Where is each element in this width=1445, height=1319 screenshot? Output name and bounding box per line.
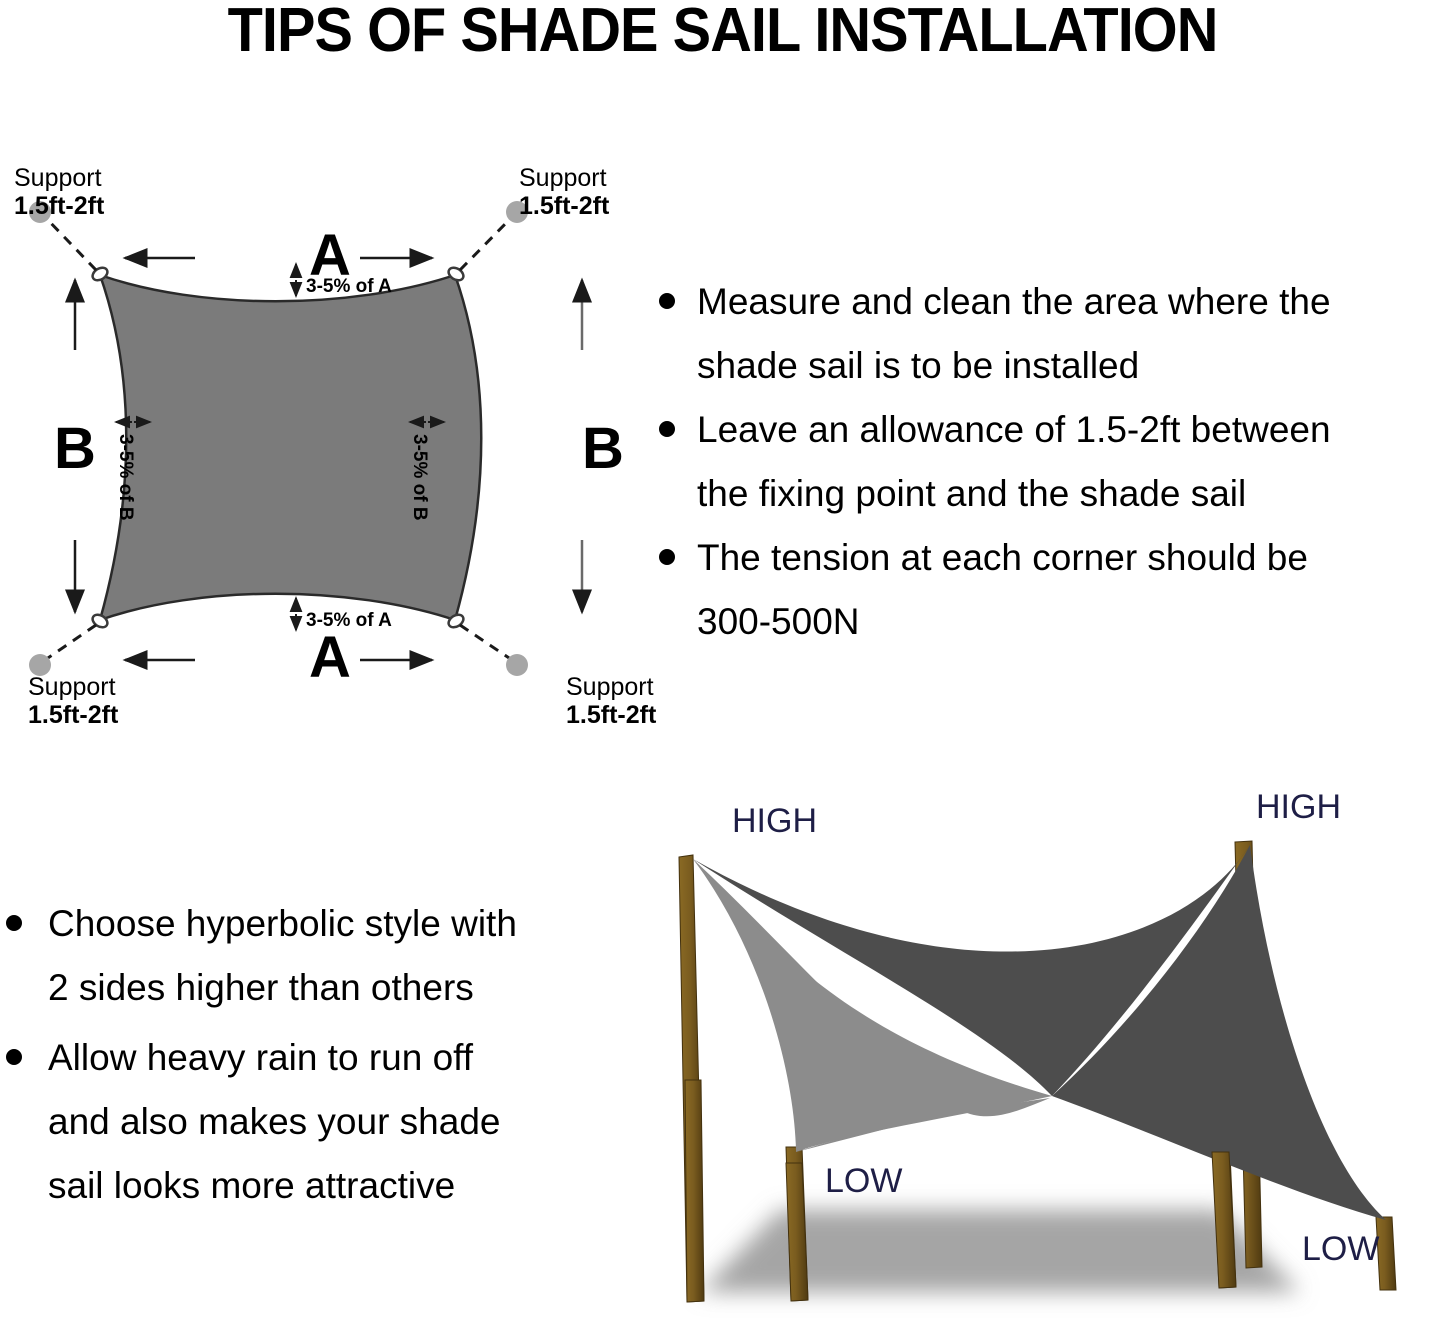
bullet-dot-icon [659, 293, 675, 309]
list-item-line: the fixing point and the shade sail [697, 462, 1445, 526]
label-low-left: LOW [825, 1162, 902, 1200]
curve-label-left: 3-5% of B [115, 434, 136, 521]
bullet-dot-icon [6, 915, 22, 931]
dimension-label-right-b: B [582, 416, 624, 481]
list-item-line: sail looks more attractive [48, 1154, 620, 1218]
support-anchor-bottom-right [460, 625, 528, 676]
curve-label-top: 3-5% of A [306, 276, 392, 297]
list-item-line: Leave an allowance of 1.5-2ft between [697, 398, 1445, 462]
curve-label-bottom: 3-5% of A [306, 610, 392, 631]
list-item-line: The tension at each corner should be [697, 526, 1445, 590]
support-label-bottom-right: Support 1.5ft-2ft [566, 673, 657, 729]
rectangle-sail-diagram: A A B B 3-5% of A 3-5% of A 3-5% of B 3-… [0, 150, 660, 740]
support-label-line1: Support [566, 673, 654, 701]
list-item-line: Allow heavy rain to run off [48, 1026, 620, 1090]
list-item-line: Measure and clean the area where the [697, 270, 1445, 334]
support-label-line1: Support [28, 673, 116, 701]
page-title: TIPS OF SHADE SAIL INSTALLATION [51, 0, 1395, 66]
support-label-line2: 1.5ft-2ft [14, 192, 105, 220]
list-item: Choose hyperbolic style with 2 sides hig… [0, 892, 620, 1020]
label-low-right: LOW [1302, 1230, 1379, 1268]
support-label-line2: 1.5ft-2ft [566, 701, 657, 729]
list-item: Measure and clean the area where the sha… [645, 270, 1445, 398]
support-anchor-top-right [460, 201, 528, 270]
list-item-line: and also makes your shade [48, 1090, 620, 1154]
infographic-page: TIPS OF SHADE SAIL INSTALLATION [0, 0, 1445, 1319]
hyperbolic-sail-diagram: HIGH HIGH LOW LOW [660, 780, 1445, 1319]
support-label-line2: 1.5ft-2ft [519, 192, 610, 220]
post-left-high-front [685, 1080, 704, 1302]
curve-label-right: 3-5% of B [409, 434, 430, 521]
list-item-line: 2 sides higher than others [48, 956, 620, 1020]
support-anchor-bottom-left [29, 625, 96, 676]
list-item-line: Choose hyperbolic style with [48, 892, 620, 956]
list-item-line: 300-500N [697, 590, 1445, 654]
bullet-dot-icon [659, 421, 675, 437]
bullet-dot-icon [659, 549, 675, 565]
list-item: The tension at each corner should be 300… [645, 526, 1445, 654]
dimension-label-left-b: B [54, 416, 96, 481]
support-label-bottom-left: Support 1.5ft-2ft [28, 673, 119, 729]
support-label-line1: Support [519, 164, 607, 192]
label-high-right: HIGH [1256, 788, 1341, 826]
tips-list-bottom: Choose hyperbolic style with 2 sides hig… [0, 892, 620, 1224]
support-dot-icon [506, 654, 528, 676]
tips-list-top: Measure and clean the area where the sha… [645, 270, 1445, 654]
list-item: Leave an allowance of 1.5-2ft between th… [645, 398, 1445, 526]
support-label-line2: 1.5ft-2ft [28, 701, 119, 729]
list-item-line: shade sail is to be installed [697, 334, 1445, 398]
support-label-line1: Support [14, 164, 102, 192]
list-item: Allow heavy rain to run off and also mak… [0, 1026, 620, 1218]
dimension-label-bottom-a: A [309, 625, 351, 690]
support-label-top-right: Support 1.5ft-2ft [519, 164, 610, 220]
label-high-left: HIGH [732, 802, 817, 840]
bullet-dot-icon [6, 1049, 22, 1065]
support-label-top-left: Support 1.5ft-2ft [14, 164, 105, 220]
